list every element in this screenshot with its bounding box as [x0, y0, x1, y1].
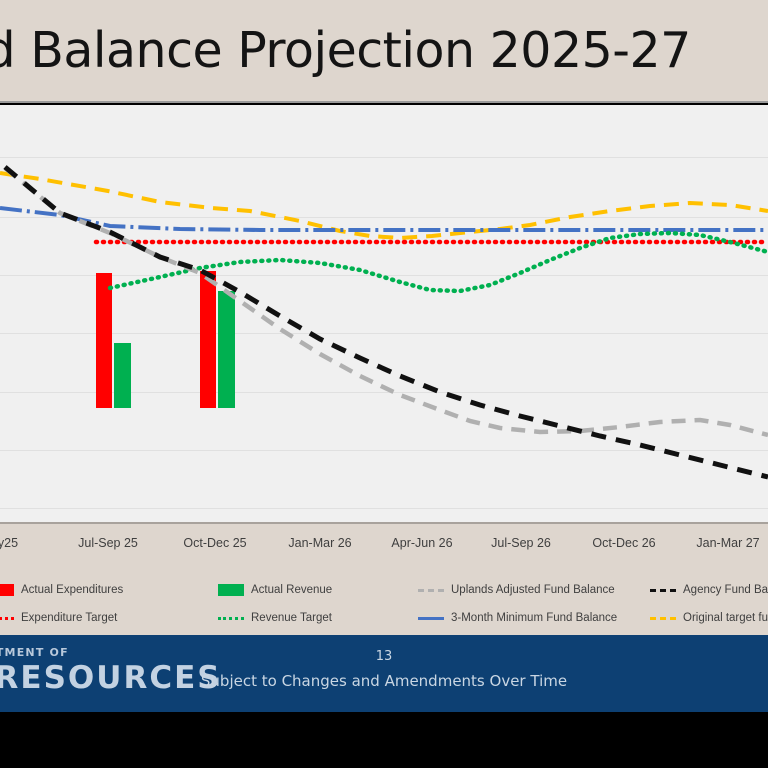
- legend-swatch-icon: [218, 584, 244, 596]
- chart-plot-area: [0, 105, 768, 522]
- legend-item-uplands-adjusted-fund-balance[interactable]: Uplands Adjusted Fund Balance: [418, 584, 615, 596]
- legend-label: Uplands Adjusted Fund Balance: [451, 584, 615, 596]
- legend-item-expenditure-target[interactable]: Expenditure Target: [0, 612, 117, 624]
- chart-series-layer: [0, 105, 768, 522]
- x-axis-tick: Jul-Sep 26: [491, 536, 551, 550]
- legend-label: Original target fun: [683, 612, 768, 624]
- slide-footer: EPARTMENT OF L RESOURCES 13 Subject to C…: [0, 635, 768, 712]
- x-axis-tick: Jan-Mar 26: [288, 536, 351, 550]
- legend-item-actual-expenditures[interactable]: Actual Expenditures: [0, 584, 123, 596]
- legend-item-actual-revenue[interactable]: Actual Revenue: [218, 584, 332, 596]
- legend-swatch-icon: [418, 589, 444, 592]
- legend-swatch-icon: [418, 617, 444, 620]
- slide: nd Balance Projection 2025-27: [0, 0, 768, 768]
- legend-swatch-icon: [650, 617, 676, 620]
- x-axis-tick: y25: [0, 536, 18, 550]
- legend-item-revenue-target[interactable]: Revenue Target: [218, 612, 332, 624]
- chart-legend: Actual Expenditures Actual Revenue Uplan…: [0, 578, 768, 635]
- legend-swatch-icon: [0, 617, 14, 620]
- series-agency-fund-balance: [5, 167, 768, 477]
- slide-title-bar: nd Balance Projection 2025-27: [0, 0, 768, 103]
- legend-label: Agency Fund Balan: [683, 584, 768, 596]
- chart-axis-and-legend: y25 Jul-Sep 25 Oct-Dec 25 Jan-Mar 26 Apr…: [0, 522, 768, 635]
- legend-label: Revenue Target: [251, 612, 332, 624]
- legend-label: Expenditure Target: [21, 612, 117, 624]
- series-uplands-adjusted-fund-balance: [5, 168, 768, 435]
- legend-item-agency-fund-balance[interactable]: Agency Fund Balan: [650, 584, 768, 596]
- footer-disclaimer: Subject to Changes and Amendments Over T…: [0, 672, 768, 690]
- legend-item-original-target-fund[interactable]: Original target fun: [650, 612, 768, 624]
- page-title: nd Balance Projection 2025-27: [0, 22, 691, 79]
- legend-label: Actual Revenue: [251, 584, 332, 596]
- legend-swatch-icon: [0, 584, 14, 596]
- x-axis-tick: Oct-Dec 26: [592, 536, 655, 550]
- series-3-month-minimum-fund-balance: [0, 208, 768, 230]
- fund-balance-chart: [0, 105, 768, 522]
- page-number: 13: [0, 649, 768, 664]
- letterbox-band: [0, 712, 768, 768]
- legend-item-3-month-minimum-fund-balance[interactable]: 3-Month Minimum Fund Balance: [418, 612, 617, 624]
- x-axis-tick: Oct-Dec 25: [183, 536, 246, 550]
- x-axis-tick: Jan-Mar 27: [696, 536, 759, 550]
- x-axis-tick: Apr-Jun 26: [391, 536, 452, 550]
- legend-swatch-icon: [650, 589, 676, 592]
- legend-swatch-icon: [218, 617, 244, 620]
- x-axis-tick: Jul-Sep 25: [78, 536, 138, 550]
- legend-label: Actual Expenditures: [21, 584, 123, 596]
- legend-label: 3-Month Minimum Fund Balance: [451, 612, 617, 624]
